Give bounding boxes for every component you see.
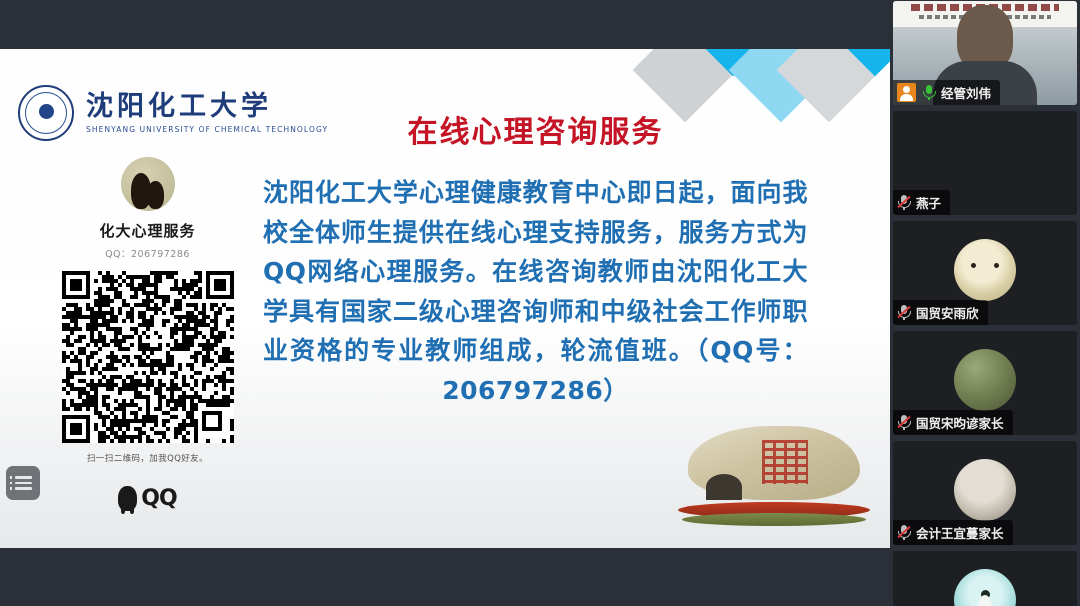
participant-tile[interactable]: 燕子 bbox=[893, 111, 1077, 215]
participant-list-button[interactable] bbox=[6, 466, 40, 500]
qq-penguin-icon bbox=[118, 486, 137, 511]
mic-muted-icon bbox=[897, 305, 910, 320]
presentation-slide: 沈阳化工大学 SHENYANG UNIVERSITY OF CHEMICAL T… bbox=[0, 49, 890, 548]
participant-avatar bbox=[954, 459, 1016, 521]
participant-tile[interactable]: 会计王宜蔓家长 bbox=[893, 441, 1077, 545]
participant-namebar: 经管刘伟 bbox=[893, 80, 1000, 105]
participant-namebar: 国贸安雨欣 bbox=[893, 300, 988, 325]
participant-tile[interactable]: 经管刘伟 bbox=[893, 1, 1077, 105]
participant-namebar: 国贸宋昀谚家长 bbox=[893, 410, 1013, 435]
mic-muted-icon bbox=[897, 415, 910, 430]
participant-avatar bbox=[954, 239, 1016, 301]
qq-brand-text: QQ bbox=[141, 486, 176, 511]
slide-text-block: 在线心理咨询服务 沈阳化工大学心理健康教育中心即日起，面向我校全体师生提供在线心… bbox=[263, 107, 808, 410]
qq-penguins-avatar bbox=[121, 157, 175, 211]
participant-tile[interactable] bbox=[893, 551, 1077, 606]
campus-landmark-stone-image bbox=[674, 418, 874, 530]
mic-muted-icon bbox=[897, 195, 910, 210]
participant-namebar: 会计王宜蔓家长 bbox=[893, 520, 1013, 545]
user-badge-icon bbox=[897, 83, 916, 102]
qr-instruction: 扫一扫二维码，加我QQ好友。 bbox=[55, 452, 240, 464]
slide-title: 在线心理咨询服务 bbox=[263, 107, 808, 151]
participant-filmstrip[interactable]: 经管刘伟燕子国贸安雨欣国贸宋昀谚家长会计王宜蔓家长 bbox=[890, 0, 1080, 606]
participant-avatar bbox=[954, 349, 1016, 411]
qq-contact-card: 化大心理服务 QQ：206797286 扫一扫二维码，加我QQ好友。 QQ bbox=[55, 157, 240, 511]
participant-tile[interactable]: 国贸宋昀谚家长 bbox=[893, 331, 1077, 435]
mic-icon bbox=[922, 85, 935, 100]
screen-share-stage[interactable]: 沈阳化工大学 SHENYANG UNIVERSITY OF CHEMICAL T… bbox=[0, 0, 890, 606]
participant-name: 燕子 bbox=[916, 193, 941, 212]
mic-muted-icon bbox=[897, 525, 910, 540]
participant-namebar: 燕子 bbox=[893, 190, 950, 215]
qq-display-name: 化大心理服务 bbox=[55, 220, 240, 241]
university-seal-icon bbox=[18, 85, 74, 141]
video-meeting-window: 沈阳化工大学 SHENYANG UNIVERSITY OF CHEMICAL T… bbox=[0, 0, 1080, 606]
participant-name: 会计王宜蔓家长 bbox=[916, 523, 1004, 542]
qq-brand-logo: QQ bbox=[55, 486, 240, 511]
participant-name: 国贸安雨欣 bbox=[916, 303, 979, 322]
participant-name: 经管刘伟 bbox=[941, 83, 991, 102]
participant-avatar bbox=[954, 569, 1016, 606]
slide-body-text: 沈阳化工大学心理健康教育中心即日起，面向我校全体师生提供在线心理支持服务，服务方… bbox=[263, 173, 808, 410]
qq-qr-code bbox=[62, 271, 234, 443]
participant-name: 国贸宋昀谚家长 bbox=[916, 413, 1004, 432]
qq-number-label: QQ：206797286 bbox=[55, 246, 240, 260]
participant-tile[interactable]: 国贸安雨欣 bbox=[893, 221, 1077, 325]
